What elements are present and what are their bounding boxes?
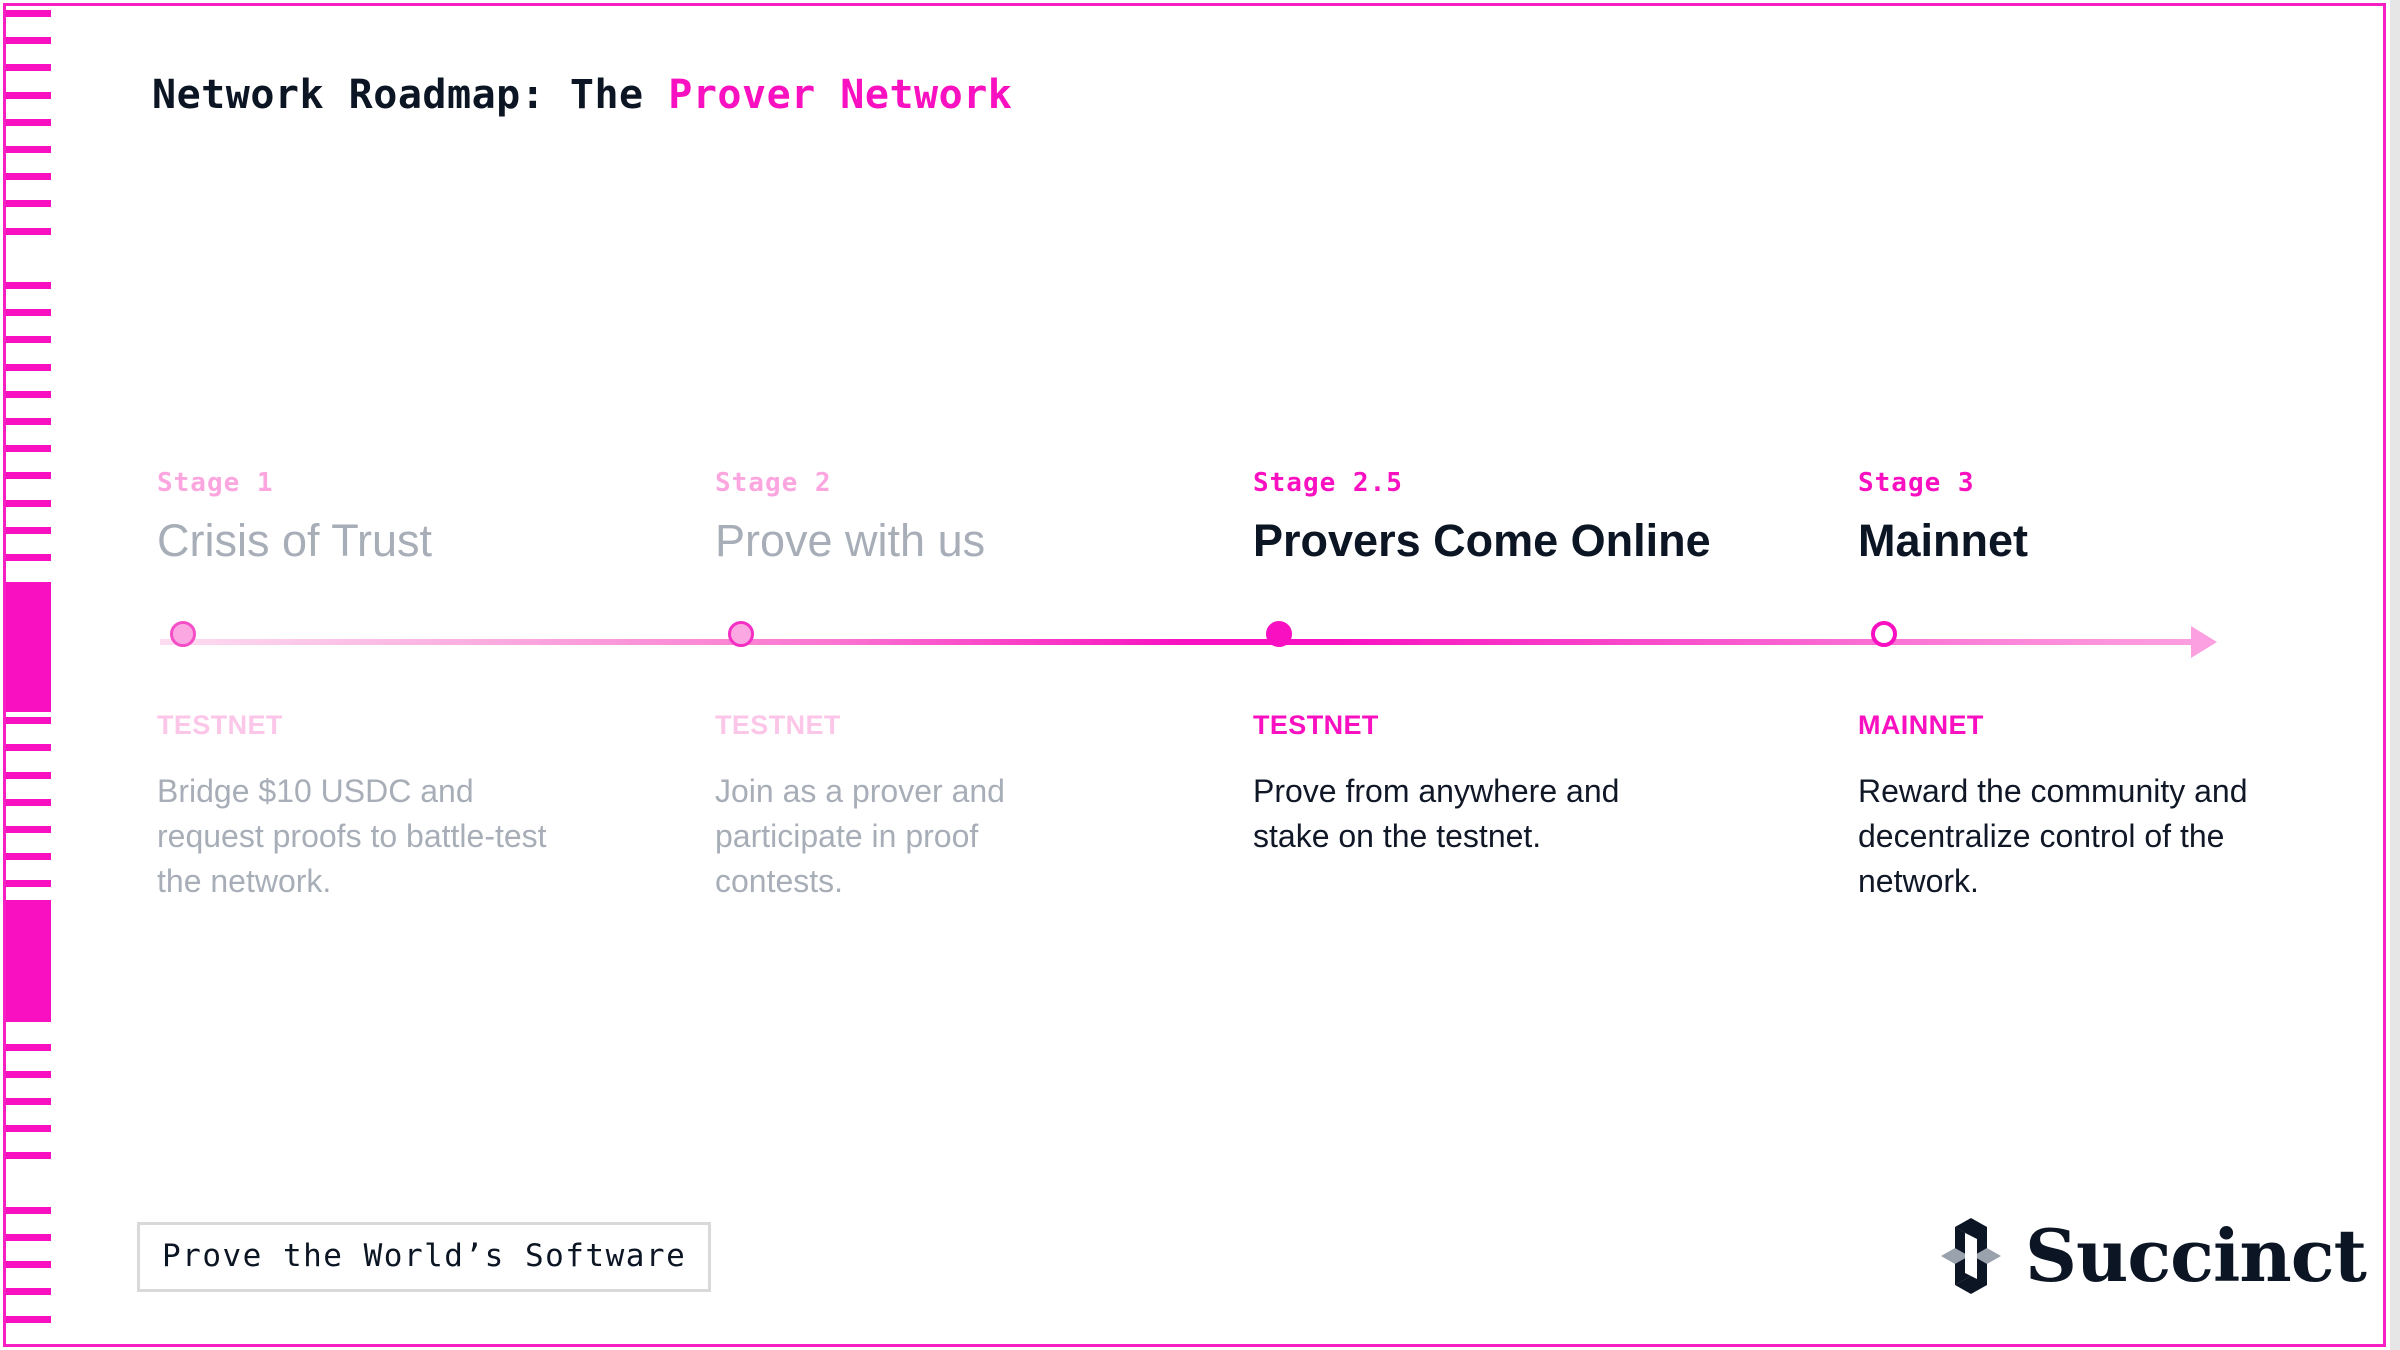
stage-heading-1: Stage 1 Crisis of Trust xyxy=(157,470,677,563)
page-title-accent: Prover Network xyxy=(668,72,1012,118)
frame-border-top xyxy=(3,3,2386,6)
ruler-tick xyxy=(6,744,51,751)
frame-border-right xyxy=(2383,3,2386,1347)
stage-heading-3: Stage 2.5 Provers Come Online xyxy=(1253,470,1773,563)
stage-label-4: Stage 3 xyxy=(1858,470,2378,496)
ruler-tick xyxy=(6,554,51,561)
succinct-logo-mark xyxy=(1935,1215,2007,1297)
stage-tag-2: TESTNET xyxy=(715,712,1165,739)
ruler-tick xyxy=(6,37,51,44)
page-title: Network Roadmap: The Prover Network xyxy=(152,72,1012,118)
ruler-tick xyxy=(6,445,51,452)
ruler-tick xyxy=(6,92,51,99)
ruler-tick xyxy=(6,418,51,425)
ruler-tick xyxy=(6,1125,51,1132)
ruler-tick xyxy=(6,880,51,887)
stage-tag-3: TESTNET xyxy=(1253,712,1703,739)
succinct-wordmark: Succinct xyxy=(2025,1220,2366,1292)
slide-canvas: Network Roadmap: The Prover Network Stag… xyxy=(0,0,2400,1350)
timeline-node-1[interactable] xyxy=(170,621,196,647)
ruler-tick xyxy=(6,1071,51,1078)
stage-label-3: Stage 2.5 xyxy=(1253,470,1773,496)
ruler-tick xyxy=(6,527,51,534)
ruler-tick xyxy=(6,1261,51,1268)
stage-description-4: MAINNET Reward the community and decentr… xyxy=(1858,712,2308,904)
ruler-tick xyxy=(6,391,51,398)
ruler-tick xyxy=(6,772,51,779)
ruler-tick xyxy=(6,282,51,289)
ruler-tick xyxy=(6,336,51,343)
page-scrollbar[interactable] xyxy=(2390,0,2400,1350)
roadmap-timeline xyxy=(160,637,2215,647)
tagline-text: Prove the World’s Software xyxy=(162,1239,686,1273)
stage-heading-4: Stage 3 Mainnet xyxy=(1858,470,2378,563)
frame-border-bottom xyxy=(3,1344,2386,1347)
stage-tag-4: MAINNET xyxy=(1858,712,2308,739)
ruler-tick xyxy=(6,119,51,126)
stage-tag-1: TESTNET xyxy=(157,712,607,739)
ruler-tick xyxy=(6,472,51,479)
stage-description-1: TESTNET Bridge $10 USDC and request proo… xyxy=(157,712,607,904)
ruler-tick xyxy=(6,146,51,153)
stage-label-1: Stage 1 xyxy=(157,470,677,496)
ruler-tick xyxy=(6,228,51,235)
stage-title-1: Crisis of Trust xyxy=(157,518,677,563)
stage-title-4: Mainnet xyxy=(1858,518,2378,563)
ruler-tick xyxy=(6,10,51,17)
stage-title-2: Prove with us xyxy=(715,518,1235,563)
ruler-tick xyxy=(6,1316,51,1323)
ruler-tick xyxy=(6,364,51,371)
ruler-tick xyxy=(6,173,51,180)
timeline-node-3[interactable] xyxy=(1266,621,1292,647)
ruler-tick xyxy=(6,1234,51,1241)
stage-label-2: Stage 2 xyxy=(715,470,1235,496)
stage-body-1: Bridge $10 USDC and request proofs to ba… xyxy=(157,769,577,904)
stage-description-3: TESTNET Prove from anywhere and stake on… xyxy=(1253,712,1703,859)
ruler-tick xyxy=(6,64,51,71)
ruler-tick xyxy=(6,1152,51,1159)
right-arrow-icon xyxy=(2191,626,2217,658)
tagline-box: Prove the World’s Software xyxy=(137,1222,711,1292)
ruler-tick xyxy=(6,826,51,833)
stage-body-3: Prove from anywhere and stake on the tes… xyxy=(1253,769,1653,859)
stage-body-2: Join as a prover and participate in proo… xyxy=(715,769,1095,904)
stage-body-4: Reward the community and decentralize co… xyxy=(1858,769,2278,904)
page-title-prefix: Network Roadmap: The xyxy=(152,72,668,118)
ruler-tick xyxy=(6,1044,51,1051)
ruler-tick xyxy=(6,1288,51,1295)
timeline-track xyxy=(160,639,2210,645)
ruler-tick xyxy=(6,1098,51,1105)
ruler-tick xyxy=(6,853,51,860)
ruler-tick xyxy=(6,717,51,724)
ruler-tick xyxy=(6,309,51,316)
succinct-logo: Succinct xyxy=(1935,1215,2366,1297)
ruler-tick xyxy=(6,200,51,207)
ruler-tick xyxy=(6,799,51,806)
ruler-tick xyxy=(6,500,51,507)
stage-description-2: TESTNET Join as a prover and participate… xyxy=(715,712,1165,904)
ruler-block xyxy=(6,582,51,712)
ruler-tick xyxy=(6,1207,51,1214)
ruler-block xyxy=(6,900,51,1022)
stage-title-3: Provers Come Online xyxy=(1253,518,1773,563)
timeline-node-4[interactable] xyxy=(1871,621,1897,647)
ruler-decoration xyxy=(6,6,51,1344)
stage-heading-2: Stage 2 Prove with us xyxy=(715,470,1235,563)
timeline-node-2[interactable] xyxy=(728,621,754,647)
